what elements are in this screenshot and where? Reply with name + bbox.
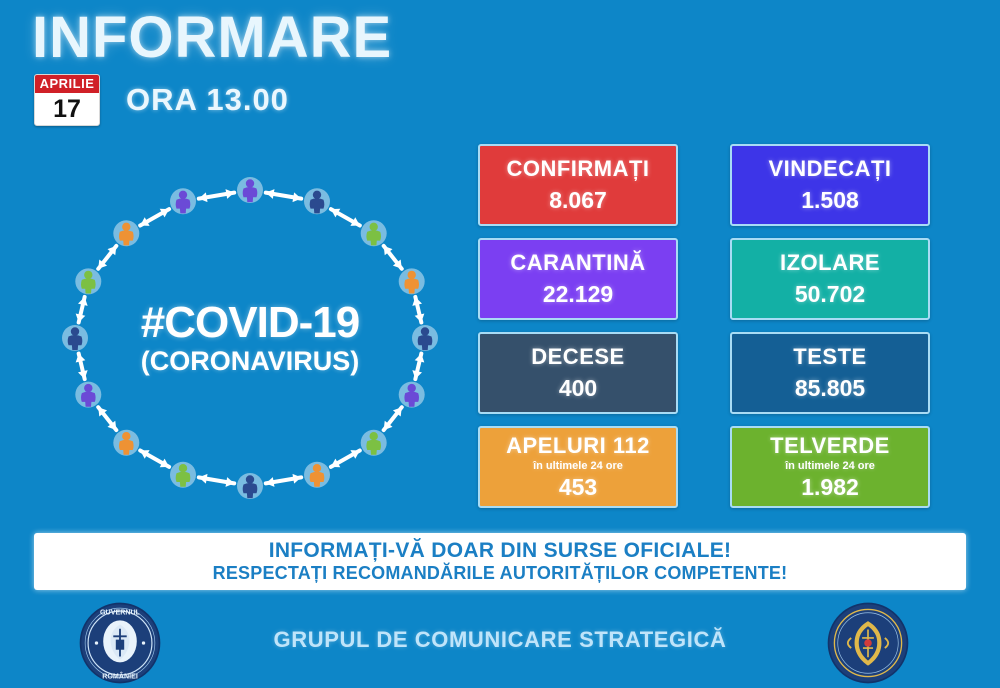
people-group <box>62 177 438 499</box>
banner-line-1: INFORMAȚI-VĂ DOAR DIN SURSE OFICIALE! <box>269 539 732 563</box>
person-icon <box>237 473 263 499</box>
person-icon <box>412 325 438 351</box>
stat-note: în ultimele 24 ore <box>785 460 875 472</box>
person-icon <box>170 462 196 488</box>
stat-row: CONFIRMAȚI8.067VINDECAȚI1.508 <box>478 144 930 226</box>
connector-arrow-icon <box>331 209 360 226</box>
calendar-day-label: 17 <box>35 93 99 126</box>
person-icon <box>113 430 139 456</box>
connector-arrow-icon <box>412 297 424 322</box>
stat-value: 453 <box>559 473 597 501</box>
stat-row: CARANTINĂ22.129IZOLARE50.702 <box>478 238 930 320</box>
stat-value: 22.129 <box>543 280 613 308</box>
date-row: APRILIE 17 ORA 13.00 <box>34 74 289 126</box>
person-icon <box>361 430 387 456</box>
stat-label: IZOLARE <box>780 250 880 276</box>
stat-row: APELURI 112în ultimele 24 ore453TELVERDE… <box>478 426 930 508</box>
stat-value: 8.067 <box>549 186 607 214</box>
connector-arrow-icon <box>199 474 234 487</box>
person-icon <box>75 268 101 294</box>
people-circle-svg <box>30 160 470 520</box>
connector-arrow-icon <box>331 450 360 467</box>
connector-arrow-icon <box>76 354 88 379</box>
stat-row: DECESE400TESTE85.805 <box>478 332 930 414</box>
banner-line-2: RESPECTAȚI RECOMANDĂRILE AUTORITĂȚILOR C… <box>213 563 788 584</box>
connector-arrow-icon <box>98 246 116 269</box>
stat-card-carantin: CARANTINĂ22.129 <box>478 238 678 320</box>
stat-card-teste: TESTE85.805 <box>730 332 930 414</box>
person-icon <box>304 462 330 488</box>
stat-label: APELURI 112 <box>506 433 650 459</box>
connector-arrow-icon <box>76 297 88 322</box>
person-icon <box>399 268 425 294</box>
stat-value: 1.982 <box>801 473 859 501</box>
stat-value: 85.805 <box>795 374 865 402</box>
connector-arrow-icon <box>199 189 234 202</box>
stat-label: CONFIRMAȚI <box>506 156 649 182</box>
stat-card-confirma-i: CONFIRMAȚI8.067 <box>478 144 678 226</box>
footer: GUVERNUL ROMÂNIEI GRUPUL DE COMUNICARE S… <box>0 597 1000 688</box>
svg-text:GUVERNUL: GUVERNUL <box>100 608 141 616</box>
person-icon <box>170 188 196 214</box>
stat-label: DECESE <box>531 344 624 370</box>
covid-circle-graphic: #COVID-19 (CORONAVIRUS) <box>30 160 470 520</box>
footer-text: GRUPUL DE COMUNICARE STRATEGICĂ <box>0 627 1000 653</box>
stat-value: 1.508 <box>801 186 859 214</box>
person-icon <box>304 188 330 214</box>
connector-arrow-icon <box>140 209 169 226</box>
stat-card-telverde: TELVERDEîn ultimele 24 ore1.982 <box>730 426 930 508</box>
calendar-icon: APRILIE 17 <box>34 74 100 126</box>
stat-label: TESTE <box>793 344 866 370</box>
stat-card-apeluri-112: APELURI 112în ultimele 24 ore453 <box>478 426 678 508</box>
connector-arrow-icon <box>98 407 116 430</box>
page-title: INFORMARE <box>32 4 392 71</box>
stat-note: în ultimele 24 ore <box>533 460 623 472</box>
person-icon <box>399 382 425 408</box>
stat-value: 400 <box>559 374 597 402</box>
stats-grid: CONFIRMAȚI8.067VINDECAȚI1.508CARANTINĂ22… <box>478 144 930 520</box>
header: INFORMARE APRILIE 17 ORA 13.00 <box>0 0 1000 140</box>
connector-arrow-icon <box>384 407 402 430</box>
stat-card-izolare: IZOLARE50.702 <box>730 238 930 320</box>
official-sources-banner: INFORMAȚI-VĂ DOAR DIN SURSE OFICIALE! RE… <box>34 533 966 590</box>
connector-arrow-icon <box>140 450 169 467</box>
stat-card-vindeca-i: VINDECAȚI1.508 <box>730 144 930 226</box>
person-icon <box>113 220 139 246</box>
svg-text:ROMÂNIEI: ROMÂNIEI <box>102 671 138 680</box>
stat-label: TELVERDE <box>770 433 890 459</box>
person-icon <box>75 382 101 408</box>
hour-label: ORA 13.00 <box>126 82 289 118</box>
connector-arrow-icon <box>412 354 424 379</box>
person-icon <box>62 325 88 351</box>
stat-card-decese: DECESE400 <box>478 332 678 414</box>
stat-value: 50.702 <box>795 280 865 308</box>
person-icon <box>237 177 263 203</box>
person-icon <box>361 220 387 246</box>
stat-label: CARANTINĂ <box>510 250 645 276</box>
connector-arrow-icon <box>266 474 301 487</box>
stat-label: VINDECAȚI <box>768 156 891 182</box>
connector-arrow-icon <box>266 189 301 202</box>
connector-arrow-icon <box>384 246 402 269</box>
calendar-month-label: APRILIE <box>35 75 99 93</box>
